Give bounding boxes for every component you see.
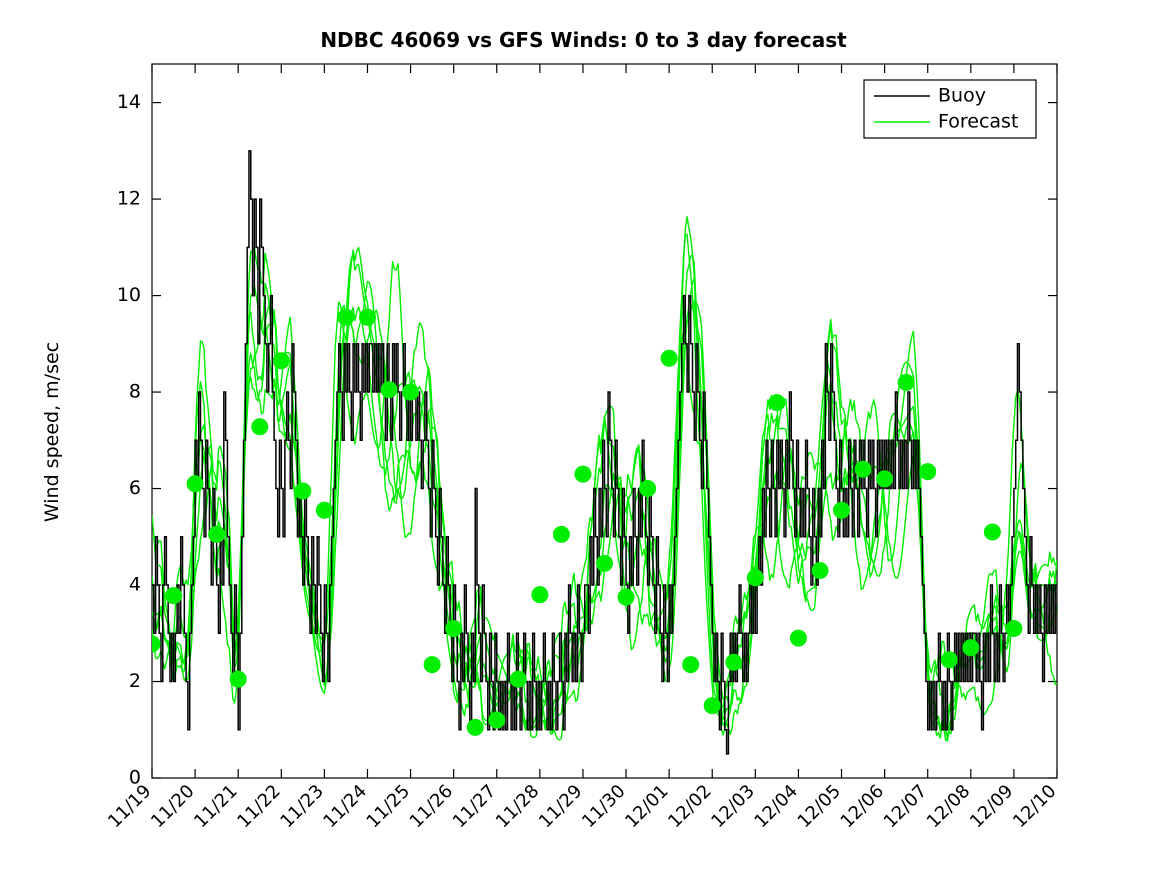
x-tick-label: 11/22 (233, 781, 285, 833)
x-tick-label: 11/24 (319, 781, 371, 833)
forecast-marker (769, 395, 785, 411)
forecast-marker (747, 570, 763, 586)
forecast-marker (403, 384, 419, 400)
forecast-marker (704, 698, 720, 714)
forecast-marker (532, 587, 548, 603)
forecast-marker (252, 419, 268, 435)
forecast-marker (812, 563, 828, 579)
x-tick-label: 11/20 (147, 781, 199, 833)
forecast-marker (855, 461, 871, 477)
x-tick-label: 11/28 (492, 781, 544, 833)
legend-label-buoy: Buoy (938, 85, 986, 107)
forecast-marker (467, 719, 483, 735)
forecast-marker (920, 464, 936, 480)
forecast-marker (166, 588, 182, 604)
x-tick-label: 12/04 (750, 781, 802, 833)
forecast-marker (984, 524, 1000, 540)
forecast-marker (316, 502, 332, 518)
forecast-marker (295, 483, 311, 499)
forecast-marker (424, 657, 440, 673)
legend: BuoyForecast (864, 80, 1036, 138)
x-tick-label: 12/03 (707, 781, 759, 833)
forecast-marker (338, 309, 354, 325)
x-tick-label: 11/21 (190, 781, 242, 833)
forecast-marker (187, 476, 203, 492)
forecast-marker (575, 466, 591, 482)
forecast-marker (144, 636, 160, 652)
figure-container: NDBC 46069 vs GFS Winds: 0 to 3 day fore… (0, 0, 1167, 875)
data-layer (144, 151, 1059, 754)
x-tick-label: 12/06 (837, 781, 889, 833)
y-tick-label: 4 (129, 574, 141, 596)
forecast-marker (597, 555, 613, 571)
x-tick-label: 11/27 (449, 781, 501, 833)
x-tick-label: 12/08 (923, 781, 975, 833)
forecast-marker (726, 654, 742, 670)
y-tick-label: 14 (117, 91, 141, 113)
y-tick-label: 2 (129, 670, 141, 692)
forecast-marker (510, 671, 526, 687)
x-tick-label: 12/05 (794, 781, 846, 833)
x-tick-label: 11/26 (406, 781, 458, 833)
forecast-marker (618, 589, 634, 605)
y-tick-label: 8 (129, 381, 141, 403)
plot-canvas: 0246810121411/1911/2011/2111/2211/2311/2… (0, 0, 1167, 875)
forecast-marker (489, 712, 505, 728)
x-tick-label: 11/29 (535, 781, 587, 833)
forecast-marker (790, 630, 806, 646)
x-tick-label: 12/09 (966, 781, 1018, 833)
x-tick-label: 12/02 (664, 781, 716, 833)
forecast-marker (209, 526, 225, 542)
forecast-marker (963, 640, 979, 656)
y-tick-label: 12 (117, 188, 141, 210)
forecast-marker (683, 657, 699, 673)
forecast-marker (230, 671, 246, 687)
x-tick-label: 11/23 (276, 781, 328, 833)
y-tick-label: 6 (129, 477, 141, 499)
forecast-marker (877, 471, 893, 487)
x-tick-label: 12/10 (1009, 781, 1061, 833)
forecast-marker (359, 309, 375, 325)
y-tick-label: 10 (117, 284, 141, 306)
forecast-marker (834, 502, 850, 518)
forecast-marker (553, 526, 569, 542)
x-tick-label: 12/01 (621, 781, 673, 833)
forecast-marker (446, 620, 462, 636)
forecast-marker (273, 353, 289, 369)
x-tick-label: 11/30 (578, 781, 630, 833)
forecast-marker (1006, 620, 1022, 636)
buoy-step-line (152, 151, 1059, 754)
forecast-marker (898, 374, 914, 390)
x-tick-label: 11/25 (363, 781, 415, 833)
forecast-marker (381, 382, 397, 398)
x-tick-label: 12/07 (880, 781, 932, 833)
legend-label-forecast: Forecast (938, 111, 1018, 133)
forecast-marker (941, 652, 957, 668)
forecast-marker (640, 481, 656, 497)
forecast-marker (661, 350, 677, 366)
